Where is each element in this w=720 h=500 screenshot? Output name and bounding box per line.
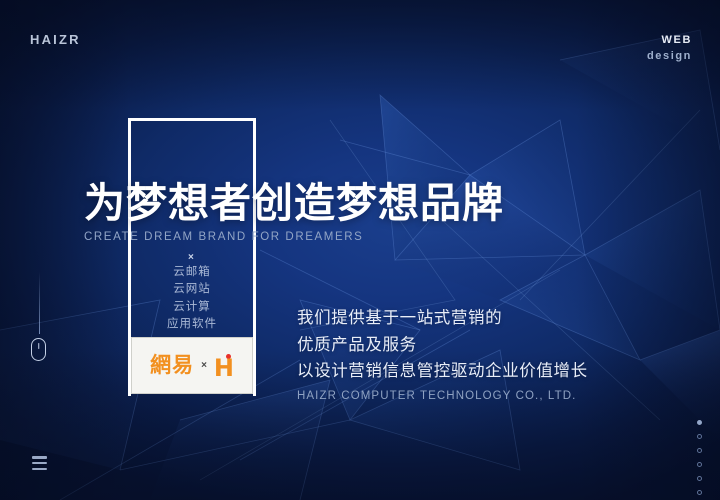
multiply-icon: ×	[201, 360, 207, 371]
cross-mark-icon: ×	[188, 252, 194, 263]
body-line-3: 以设计营销信息管控驱动企业价值增长	[297, 358, 588, 385]
page-subtitle: CREATE DREAM BRAND FOR DREAMERS	[84, 231, 504, 243]
hero-body-copy: 我们提供基于一站式营销的 优质产品及服务 以设计营销信息管控驱动企业价值增长 H…	[297, 305, 588, 402]
pagination-dot-4[interactable]	[697, 462, 702, 467]
web-design-line2: design	[647, 49, 692, 65]
haizr-mark-icon: H	[214, 354, 234, 378]
page-title: 为梦想者创造梦想品牌	[84, 182, 504, 225]
netease-logo-text: 網易	[150, 355, 194, 376]
body-line-2: 优质产品及服务	[297, 332, 588, 359]
menu-bar-1	[32, 456, 47, 459]
service-list: 云邮箱 云网站 云计算 应用软件	[131, 264, 253, 334]
web-design-line1: WEB	[647, 33, 692, 49]
service-item-cloud-computing[interactable]: 云计算	[131, 299, 253, 316]
low-poly-background	[0, 0, 720, 500]
scroll-rail-line	[39, 272, 40, 334]
haizr-mark-letter: H	[214, 356, 234, 380]
hero-headline-block: 为梦想者创造梦想品牌 CREATE DREAM BRAND FOR DREAME…	[84, 182, 504, 243]
pagination-dot-5[interactable]	[697, 476, 702, 481]
company-name-label: HAIZR COMPUTER TECHNOLOGY CO., LTD.	[297, 390, 588, 402]
slide-pagination[interactable]	[697, 420, 702, 495]
menu-bar-3	[32, 468, 47, 471]
pagination-dot-3[interactable]	[697, 448, 702, 453]
partner-logo-box[interactable]: 網易 × H	[131, 337, 253, 394]
body-line-1: 我们提供基于一站式营销的	[297, 305, 588, 332]
background-vignette	[0, 0, 720, 500]
web-design-label: WEB design	[647, 33, 692, 65]
service-item-cloud-mail[interactable]: 云邮箱	[131, 264, 253, 281]
service-item-cloud-website[interactable]: 云网站	[131, 281, 253, 298]
webpage-hero-slide: HAIZR WEB design 为梦想者创造梦想品牌 CREATE DREAM…	[0, 0, 720, 500]
pagination-dot-2[interactable]	[697, 434, 702, 439]
pagination-dot-6[interactable]	[697, 490, 702, 495]
mouse-scroll-icon[interactable]	[31, 338, 46, 361]
hamburger-menu-icon[interactable]	[32, 456, 47, 470]
mouse-wheel-icon	[38, 343, 40, 349]
menu-bar-2	[32, 462, 47, 465]
service-item-application-software[interactable]: 应用软件	[131, 316, 253, 333]
site-logo-haizr[interactable]: HAIZR	[30, 32, 81, 47]
pagination-dot-1[interactable]	[697, 420, 702, 425]
